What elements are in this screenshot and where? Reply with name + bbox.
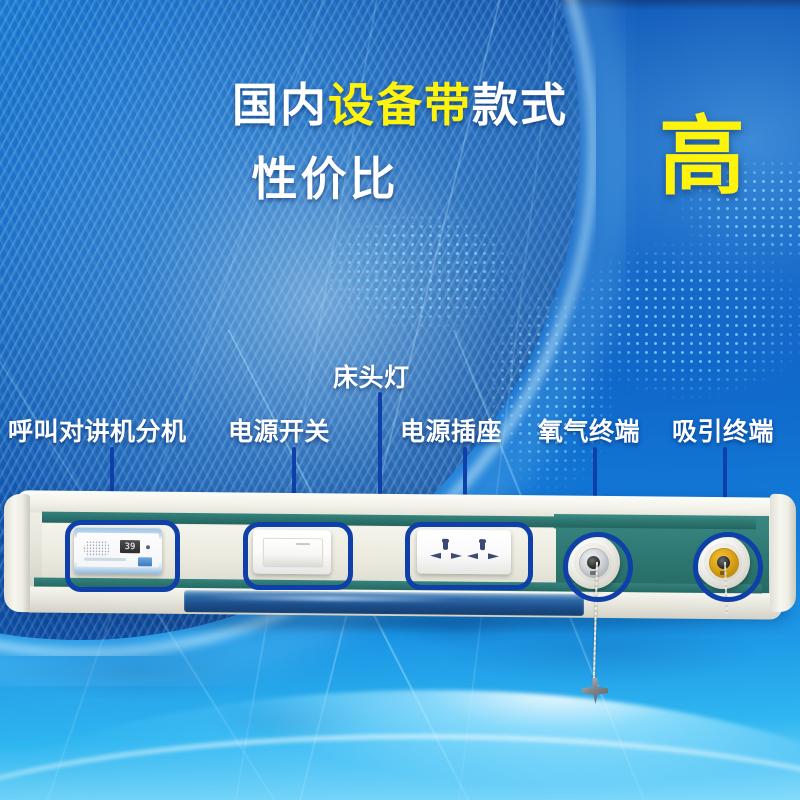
callout-label-power-switch: 电源开关	[228, 412, 330, 448]
callout-label-oxygen-terminal: 氧气终端	[538, 412, 640, 448]
panel-end-cap-right	[770, 494, 796, 612]
highlight-circle-oxygen	[563, 532, 633, 602]
highlight-box-power-switch	[243, 522, 353, 590]
highlight-circle-suction	[693, 532, 763, 602]
promo-banner: 国内设备带款式 性价比 高 呼叫对讲机分机 电源开关 床头灯 电源插座 氧气终端…	[0, 0, 800, 800]
bedside-lamp-diffuser	[184, 590, 584, 616]
highlight-box-power-socket	[405, 522, 533, 590]
highlight-box-intercom	[65, 520, 180, 592]
headline-emphasis-word: 高	[659, 114, 745, 200]
callout-label-bedside-lamp: 床头灯	[333, 358, 410, 394]
callout-label-suction-terminal: 吸引终端	[672, 412, 774, 448]
panel-end-cap-left	[4, 494, 30, 612]
headline-segment-white-2: 款式	[472, 78, 568, 132]
callout-label-power-socket: 电源插座	[400, 412, 502, 448]
headline-segment-yellow: 设备带	[328, 78, 472, 132]
callout-label-intercom: 呼叫对讲机分机	[8, 412, 187, 448]
headline-block: 国内设备带款式 性价比 高	[0, 82, 800, 202]
headline-segment-white-1: 国内	[232, 78, 328, 132]
